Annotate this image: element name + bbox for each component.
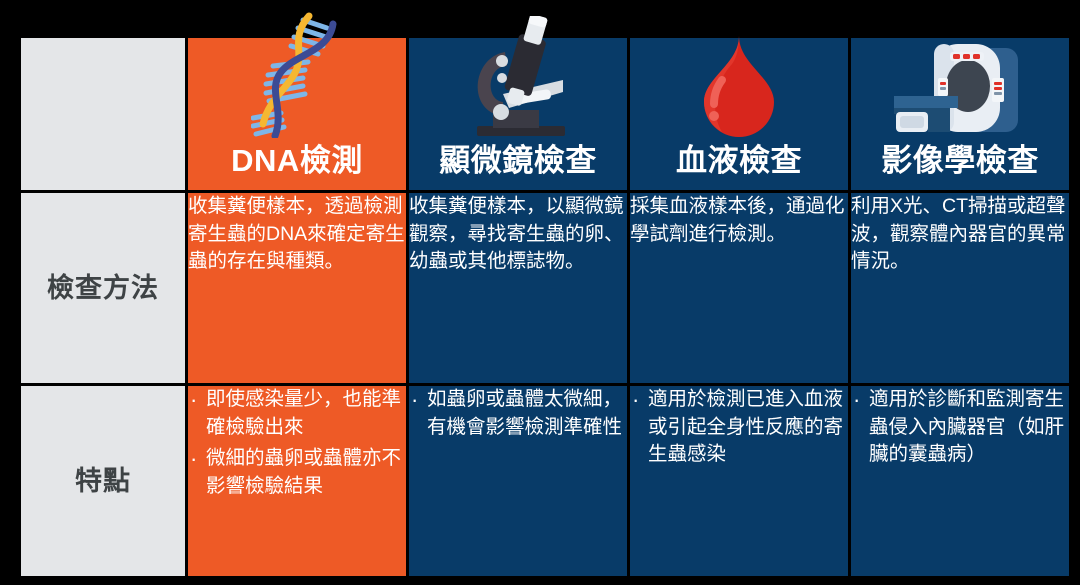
cell-method-microscope: 收集糞便樣本，以顯微鏡觀察，尋找寄生蟲的卵、幼蟲或其他標誌物。 (409, 193, 627, 383)
feature-list-dna: 即使感染量少，也能準確檢驗出來微細的蟲卵或蟲體亦不影響檢驗結果 (188, 386, 406, 501)
cell-method-microscope-text: 收集糞便樣本，以顯微鏡觀察，尋找寄生蟲的卵、幼蟲或其他標誌物。 (409, 193, 627, 276)
cell-method-blood-text: 採集血液樣本後，通過化學試劑進行檢測。 (630, 193, 848, 248)
feature-list-item: 適用於檢測已進入血液或引起全身性反應的寄生蟲感染 (630, 386, 848, 469)
cell-method-imaging-text: 利用X光、CT掃描或超聲波，觀察體內器官的異常情況。 (851, 193, 1069, 276)
column-header-microscope[interactable]: 顯微鏡檢查 (409, 38, 627, 190)
cell-method-dna-text: 收集糞便樣本，透過檢測寄生蟲的DNA來確定寄生蟲的存在與種類。 (188, 193, 406, 276)
table-row-features: 特點 即使感染量少，也能準確檢驗出來微細的蟲卵或蟲體亦不影響檢驗結果 如蟲卵或蟲… (21, 386, 1069, 576)
dna-helix-icon (251, 6, 343, 138)
row-label-method-text: 檢查方法 (21, 272, 185, 304)
row-label-features: 特點 (21, 386, 185, 576)
blood-drop-icon (700, 34, 778, 138)
cell-features-microscope: 如蟲卵或蟲體太微細，有機會影響檢測準確性 (409, 386, 627, 576)
column-header-dna[interactable]: DNA檢測 (188, 38, 406, 190)
table-row-method: 檢查方法 收集糞便樣本，透過檢測寄生蟲的DNA來確定寄生蟲的存在與種類。 收集糞… (21, 193, 1069, 383)
row-label-features-text: 特點 (21, 465, 185, 497)
comparison-table-wrapper: DNA檢測 (18, 35, 1062, 570)
cell-features-dna: 即使感染量少，也能準確檢驗出來微細的蟲卵或蟲體亦不影響檢驗結果 (188, 386, 406, 576)
column-header-imaging-label: 影像學檢查 (851, 135, 1069, 180)
column-header-dna-label: DNA檢測 (188, 135, 406, 180)
feature-list-item: 即使感染量少，也能準確檢驗出來 (188, 386, 406, 441)
cell-features-imaging: 適用於診斷和監測寄生蟲侵入內臟器官（如肝臟的囊蟲病） (851, 386, 1069, 576)
feature-list-blood: 適用於檢測已進入血液或引起全身性反應的寄生蟲感染 (630, 386, 848, 469)
cell-features-blood: 適用於檢測已進入血液或引起全身性反應的寄生蟲感染 (630, 386, 848, 576)
ct-scanner-icon (894, 34, 1026, 138)
testing-methods-comparison-table: DNA檢測 (18, 35, 1072, 579)
feature-list-item: 適用於診斷和監測寄生蟲侵入內臟器官（如肝臟的囊蟲病） (851, 386, 1069, 469)
header-corner-cell (21, 38, 185, 190)
feature-list-imaging: 適用於診斷和監測寄生蟲侵入內臟器官（如肝臟的囊蟲病） (851, 386, 1069, 469)
feature-list-microscope: 如蟲卵或蟲體太微細，有機會影響檢測準確性 (409, 386, 627, 441)
microscope-icon (459, 16, 577, 138)
feature-list-item: 微細的蟲卵或蟲體亦不影響檢驗結果 (188, 445, 406, 500)
table-header-row: DNA檢測 (21, 38, 1069, 190)
column-header-imaging[interactable]: 影像學檢查 (851, 38, 1069, 190)
feature-list-item: 如蟲卵或蟲體太微細，有機會影響檢測準確性 (409, 386, 627, 441)
cell-method-dna: 收集糞便樣本，透過檢測寄生蟲的DNA來確定寄生蟲的存在與種類。 (188, 193, 406, 383)
column-header-blood[interactable]: 血液檢查 (630, 38, 848, 190)
cell-method-imaging: 利用X光、CT掃描或超聲波，觀察體內器官的異常情況。 (851, 193, 1069, 383)
row-label-method: 檢查方法 (21, 193, 185, 383)
column-header-blood-label: 血液檢查 (630, 135, 848, 180)
cell-method-blood: 採集血液樣本後，通過化學試劑進行檢測。 (630, 193, 848, 383)
column-header-microscope-label: 顯微鏡檢查 (409, 135, 627, 180)
